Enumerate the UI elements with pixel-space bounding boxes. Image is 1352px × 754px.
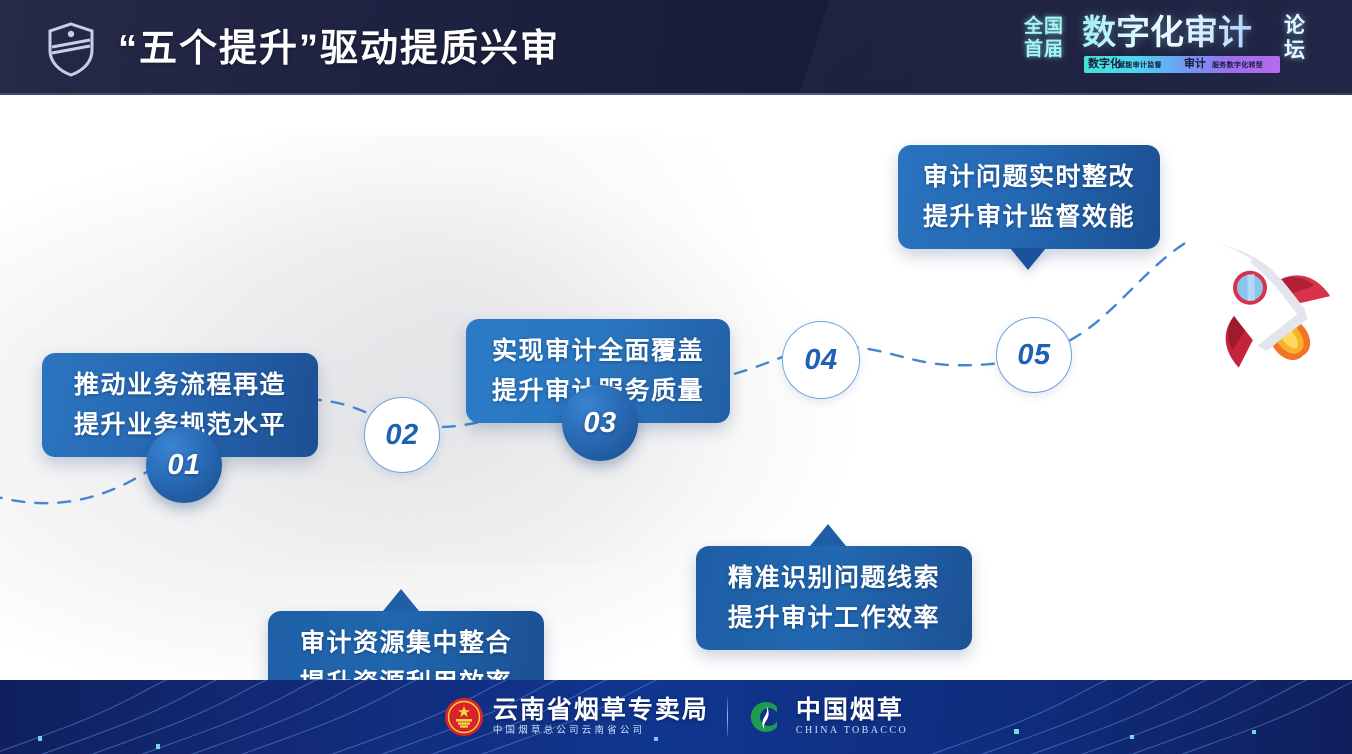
step-box-02-line2: 提升资源利用效率	[300, 663, 512, 680]
shield-icon	[44, 20, 98, 78]
footer-org-name: 云南省烟草专卖局	[493, 697, 709, 724]
footer-org: 云南省烟草专卖局 中国烟草总公司云南省公司	[493, 697, 709, 738]
step-box-04: 精准识别问题线索 提升审计工作效率	[696, 546, 972, 650]
forum-logo-prefix-line1: 全国	[1024, 15, 1078, 38]
step-circle-05-label: 05	[1017, 339, 1050, 372]
step-box-04-tail	[810, 524, 846, 546]
step-circle-03[interactable]: 03	[562, 385, 638, 461]
step-box-03-line1: 实现审计全面覆盖	[492, 331, 704, 371]
step-circle-04-label: 04	[804, 344, 837, 377]
footer-brand: 中国烟草 CHINA TOBACCO	[796, 697, 908, 738]
footer-org-sub: 中国烟草总公司云南省公司	[493, 724, 709, 738]
step-box-01-line1: 推动业务流程再造	[74, 365, 286, 405]
slide-header: “五个提升”驱动提质兴审 全国 首届 数字化审计 论 坛 数字化 赋能审计监督 …	[0, 0, 1352, 95]
footer-brand-name: 中国烟草	[796, 697, 908, 724]
slide: “五个提升”驱动提质兴审 全国 首届 数字化审计 论 坛 数字化 赋能审计监督 …	[0, 0, 1352, 754]
step-circle-02[interactable]: 02	[364, 397, 440, 473]
step-box-05: 审计问题实时整改 提升审计监督效能	[898, 145, 1160, 249]
forum-logo-suffix-line1: 论	[1284, 13, 1324, 38]
step-circle-03-label: 03	[583, 407, 616, 440]
footer-divider	[727, 697, 728, 737]
forum-logo: 全国 首届 数字化审计 论 坛 数字化 赋能审计监督 审计 服务数字化转型	[1024, 13, 1324, 85]
forum-tagline-1: 数字化	[1088, 56, 1121, 73]
forum-logo-suffix-line2: 坛	[1284, 38, 1324, 63]
slide-body: 推动业务流程再造 提升业务规范水平 审计资源集中整合 提升资源利用效率 实现审计…	[0, 95, 1352, 680]
footer-brand-sub: CHINA TOBACCO	[796, 724, 908, 738]
footer-brand-row: 云南省烟草专卖局 中国烟草总公司云南省公司 中国烟草 CHINA TOBACCO	[0, 680, 1352, 754]
national-emblem-icon	[444, 697, 484, 737]
forum-logo-prefix: 全国 首届	[1024, 15, 1078, 61]
rocket-icon	[1178, 223, 1338, 373]
step-box-02-line1: 审计资源集中整合	[300, 623, 512, 663]
forum-logo-main: 数字化审计	[1082, 13, 1252, 53]
step-box-04-line1: 精准识别问题线索	[728, 558, 940, 598]
forum-logo-prefix-line2: 首届	[1024, 38, 1078, 61]
forum-tagline-2: 审计	[1184, 56, 1206, 73]
step-box-05-line1: 审计问题实时整改	[923, 157, 1135, 197]
step-box-02: 审计资源集中整合 提升资源利用效率	[268, 611, 544, 680]
china-tobacco-logo-icon	[746, 697, 786, 737]
step-circle-01[interactable]: 01	[146, 427, 222, 503]
forum-tagline-sub-2: 服务数字化转型	[1212, 57, 1263, 73]
step-circle-01-label: 01	[167, 449, 200, 482]
step-box-05-line2: 提升审计监督效能	[923, 197, 1135, 237]
step-circle-02-label: 02	[385, 419, 418, 452]
slide-footer: 云南省烟草专卖局 中国烟草总公司云南省公司 中国烟草 CHINA TOBACCO	[0, 680, 1352, 754]
step-box-02-tail	[383, 589, 419, 611]
forum-tagline-sub-1: 赋能审计监督	[1118, 57, 1162, 73]
forum-logo-suffix: 论 坛	[1284, 13, 1324, 63]
step-box-04-line2: 提升审计工作效率	[728, 598, 940, 638]
forum-logo-tagline-bar: 数字化 赋能审计监督 审计 服务数字化转型	[1084, 56, 1280, 73]
step-box-05-tail	[1010, 248, 1046, 270]
step-circle-04[interactable]: 04	[782, 321, 860, 399]
step-circle-05[interactable]: 05	[996, 317, 1072, 393]
page-title: “五个提升”驱动提质兴审	[118, 20, 560, 78]
